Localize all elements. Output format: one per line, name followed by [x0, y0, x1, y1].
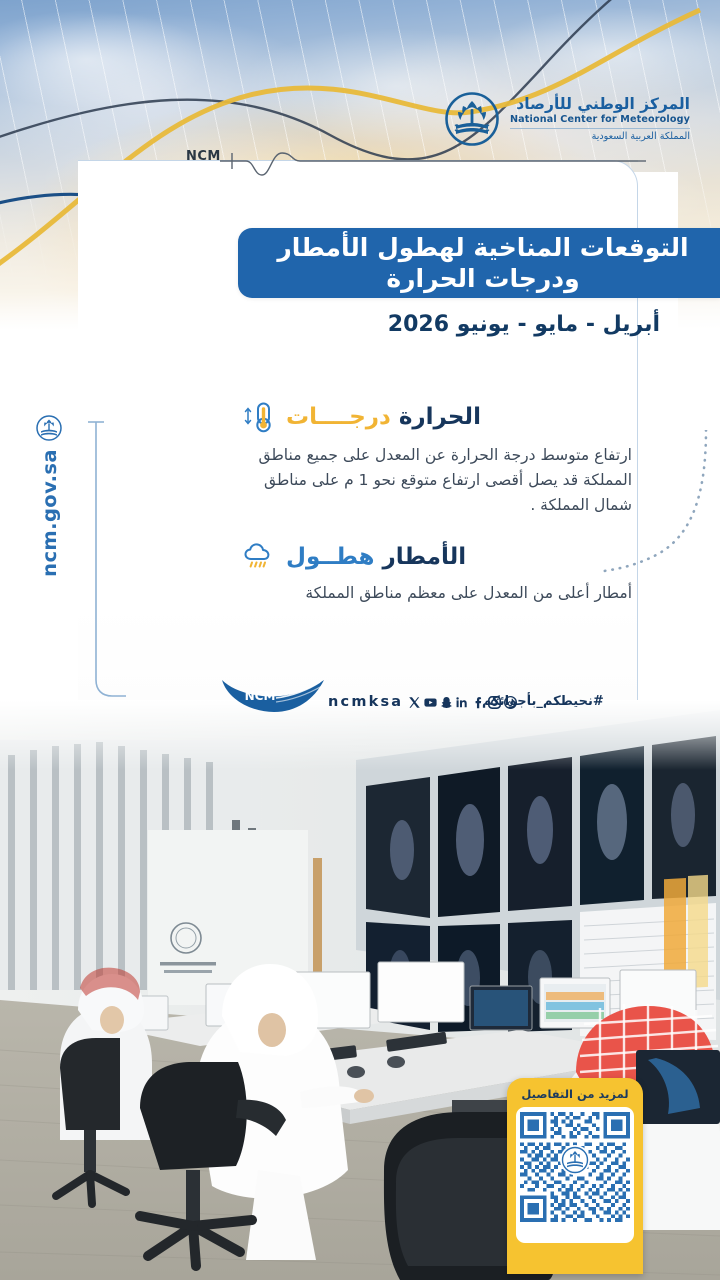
- banner-title-line2: ودرجات الحرارة: [277, 263, 688, 295]
- rainfall-section: الأمطار هطــول أمطار أعلى من المعدل على …: [242, 540, 632, 606]
- ncm-path-connector: [150, 145, 660, 177]
- saudi-palm-swords-emblem-icon: [445, 92, 499, 146]
- qr-code-panel[interactable]: لمزيد من التفاصيل: [507, 1078, 643, 1274]
- social-handle: ncmksa: [328, 694, 403, 710]
- poster-root: المركز الوطني للأرصاد National Center fo…: [0, 0, 720, 1280]
- ncm-path-label: NCM: [186, 149, 221, 164]
- youtube-icon[interactable]: [424, 696, 437, 709]
- campaign-hashtag: #نحيطكم_بأجوائكم: [482, 694, 604, 709]
- qr-code-box[interactable]: [516, 1107, 634, 1243]
- rainfall-title: الأمطار هطــول: [286, 544, 466, 570]
- ncm-brand-mark: NCM: [218, 674, 328, 720]
- rainfall-body: أمطار أعلى من المعدل على معظم مناطق المم…: [242, 581, 632, 606]
- website-url-text: ncm.gov.sa: [38, 449, 61, 577]
- ncm-logo: المركز الوطني للأرصاد National Center fo…: [445, 92, 690, 146]
- org-country-arabic: المملكة العربية السعودية: [510, 131, 690, 142]
- saudi-palm-swords-emblem-icon: [560, 1145, 590, 1175]
- temperature-body: ارتفاع متوسط درجة الحرارة عن المعدل على …: [242, 443, 632, 518]
- x-twitter-icon[interactable]: [408, 696, 421, 709]
- org-name-arabic: المركز الوطني للأرصاد: [510, 96, 690, 114]
- svg-text:NCM: NCM: [245, 689, 276, 703]
- rainfall-title-rest: الأمطار: [382, 544, 466, 570]
- org-name-english: National Center for Meteorology: [510, 114, 690, 125]
- title-banner: التوقعات المناخية لهطول الأمطار ودرجات ا…: [238, 228, 720, 298]
- website-url-vertical[interactable]: ncm.gov.sa: [36, 415, 62, 577]
- ncm-logo-text: المركز الوطني للأرصاد National Center fo…: [510, 96, 690, 143]
- temperature-section: الحرارة درجــــات ارتفاع متوسط درجة الحر…: [242, 400, 632, 518]
- thermometer-icon: [242, 400, 276, 434]
- temperature-heading: الحرارة درجــــات: [242, 400, 632, 434]
- temperature-title: الحرارة درجــــات: [286, 404, 481, 430]
- qr-title: لمزيد من التفاصيل: [507, 1078, 643, 1107]
- rainfall-title-accent: هطــول: [286, 544, 374, 570]
- qr-center-logo: [560, 1145, 590, 1175]
- snapchat-icon[interactable]: [440, 696, 453, 709]
- rain-cloud-icon: [242, 540, 276, 574]
- left-connector-line: [86, 418, 126, 708]
- saudi-palm-swords-emblem-icon: [36, 415, 62, 441]
- linkedin-icon[interactable]: [456, 696, 469, 709]
- rainfall-heading: الأمطار هطــول: [242, 540, 632, 574]
- period-subtitle: أبريل - مايو - يونيو 2026: [388, 312, 660, 337]
- banner-title-line1: التوقعات المناخية لهطول الأمطار: [277, 232, 688, 264]
- temperature-title-rest: الحرارة: [399, 404, 481, 430]
- logo-divider: [510, 128, 690, 129]
- temperature-title-accent: درجــــات: [286, 404, 391, 430]
- banner-title: التوقعات المناخية لهطول الأمطار ودرجات ا…: [247, 232, 710, 295]
